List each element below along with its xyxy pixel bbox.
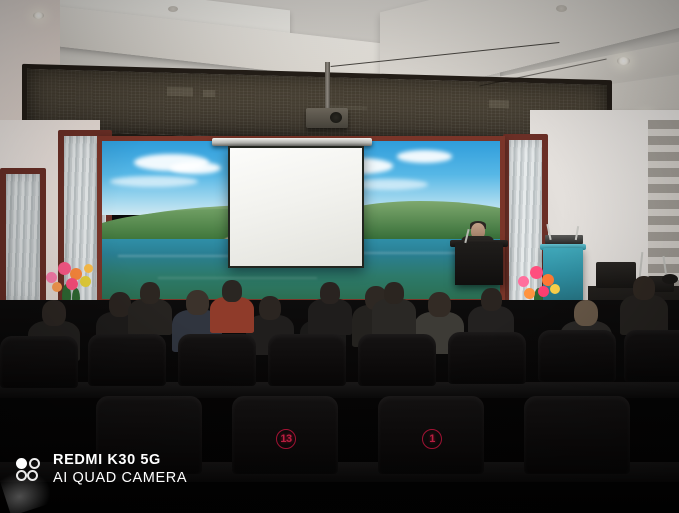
audience-body (210, 297, 254, 333)
audience-head (140, 282, 160, 304)
seat[interactable]: 13 (232, 396, 338, 474)
audience-head (320, 282, 340, 304)
projector-mount-pole (325, 62, 330, 110)
audience-head (384, 282, 404, 304)
audience-head (186, 290, 209, 315)
redmi-quad-camera-icon (14, 455, 44, 485)
ceiling-downlight-3 (617, 57, 630, 65)
watermark-line-2: AI QUAD CAMERA (53, 470, 187, 488)
seat[interactable]: 1 (378, 396, 484, 474)
photo-canvas: 131 REDMI K30 5G AI QUAD CAMERA (0, 0, 679, 513)
speaker-podium (455, 243, 503, 285)
audience-head (574, 300, 598, 326)
seat[interactable] (0, 336, 78, 388)
seat[interactable] (268, 334, 346, 386)
seat[interactable] (624, 330, 679, 382)
audience-head (259, 296, 281, 320)
seat[interactable] (524, 396, 630, 474)
seat[interactable] (448, 332, 526, 384)
audience-member (128, 282, 172, 340)
projector-lens-icon (330, 112, 342, 123)
seat-number: 1 (422, 429, 442, 449)
screen-roller-housing (212, 138, 372, 146)
seat[interactable] (358, 334, 436, 386)
seat-number: 13 (276, 429, 296, 449)
seat[interactable] (538, 330, 616, 382)
ceiling-vent-1 (168, 6, 178, 12)
audience-body (128, 299, 172, 335)
audience-head (481, 288, 502, 311)
audience-head (222, 280, 242, 302)
audience-head (633, 276, 655, 300)
audience-body (620, 295, 668, 335)
seat[interactable] (178, 334, 256, 386)
projection-screen (228, 146, 364, 268)
audience-member (308, 282, 352, 340)
camera-watermark: REDMI K30 5G AI QUAD CAMERA (14, 452, 187, 487)
watermark-line-1: REDMI K30 5G (53, 452, 187, 470)
audience-body (308, 299, 352, 335)
audience-body (372, 299, 416, 337)
ceiling-vent-2 (556, 5, 567, 12)
audience-member (372, 282, 416, 342)
audience-head (428, 292, 451, 317)
seat[interactable] (88, 334, 166, 386)
audience-member (210, 280, 254, 338)
ceiling-downlight-1 (33, 12, 44, 19)
audience-head (42, 300, 66, 326)
